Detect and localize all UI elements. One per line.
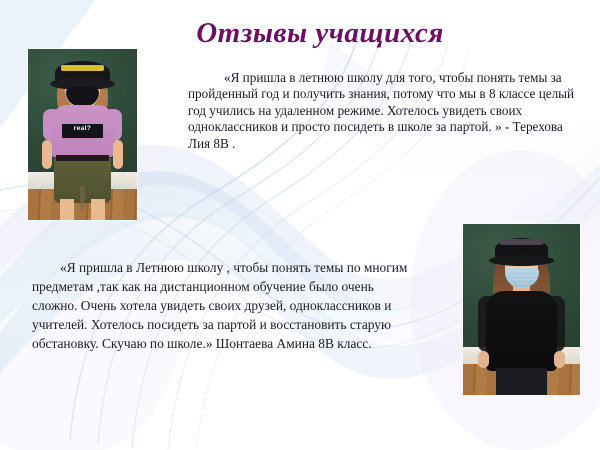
photo-1-scene: real?: [28, 49, 137, 220]
quote-terekhova-text: «Я пришла в летнюю школу для того, чтобы…: [188, 70, 574, 151]
photo-student-2: [463, 224, 580, 395]
student-1-shorts-gap: [80, 186, 84, 210]
quote-shontaeva-text: «Я пришла в Летнюю школу , чтобы понять …: [32, 260, 407, 351]
student-2-hand-left: [478, 351, 489, 368]
student-2-hat-brim: [489, 255, 555, 266]
page-title: Отзывы учащихся: [0, 17, 600, 50]
student-1-hand-left: [42, 140, 52, 169]
student-1-hand-right: [113, 140, 123, 169]
quote-terekhova: «Я пришла в летнюю школу для того, чтобы…: [188, 70, 588, 152]
student-2-trousers: [496, 368, 547, 395]
photo-student-1: real?: [28, 49, 137, 220]
student-2-blouse: [486, 291, 556, 371]
slide: Отзывы учащихся real?: [0, 0, 600, 450]
student-1-belt: [56, 155, 108, 161]
student-2-hand-right: [554, 351, 565, 368]
student-1-hat-band: [61, 65, 105, 71]
student-1-leg-right: [91, 199, 105, 220]
photo-2-scene: [463, 224, 580, 395]
student-1-leg-left: [60, 199, 74, 220]
student-1-shirt-print-text: real?: [64, 125, 101, 137]
quote-shontaeva: «Я пришла в Летнюю школу , чтобы понять …: [32, 258, 422, 353]
student-2-hat-band: [499, 239, 543, 244]
